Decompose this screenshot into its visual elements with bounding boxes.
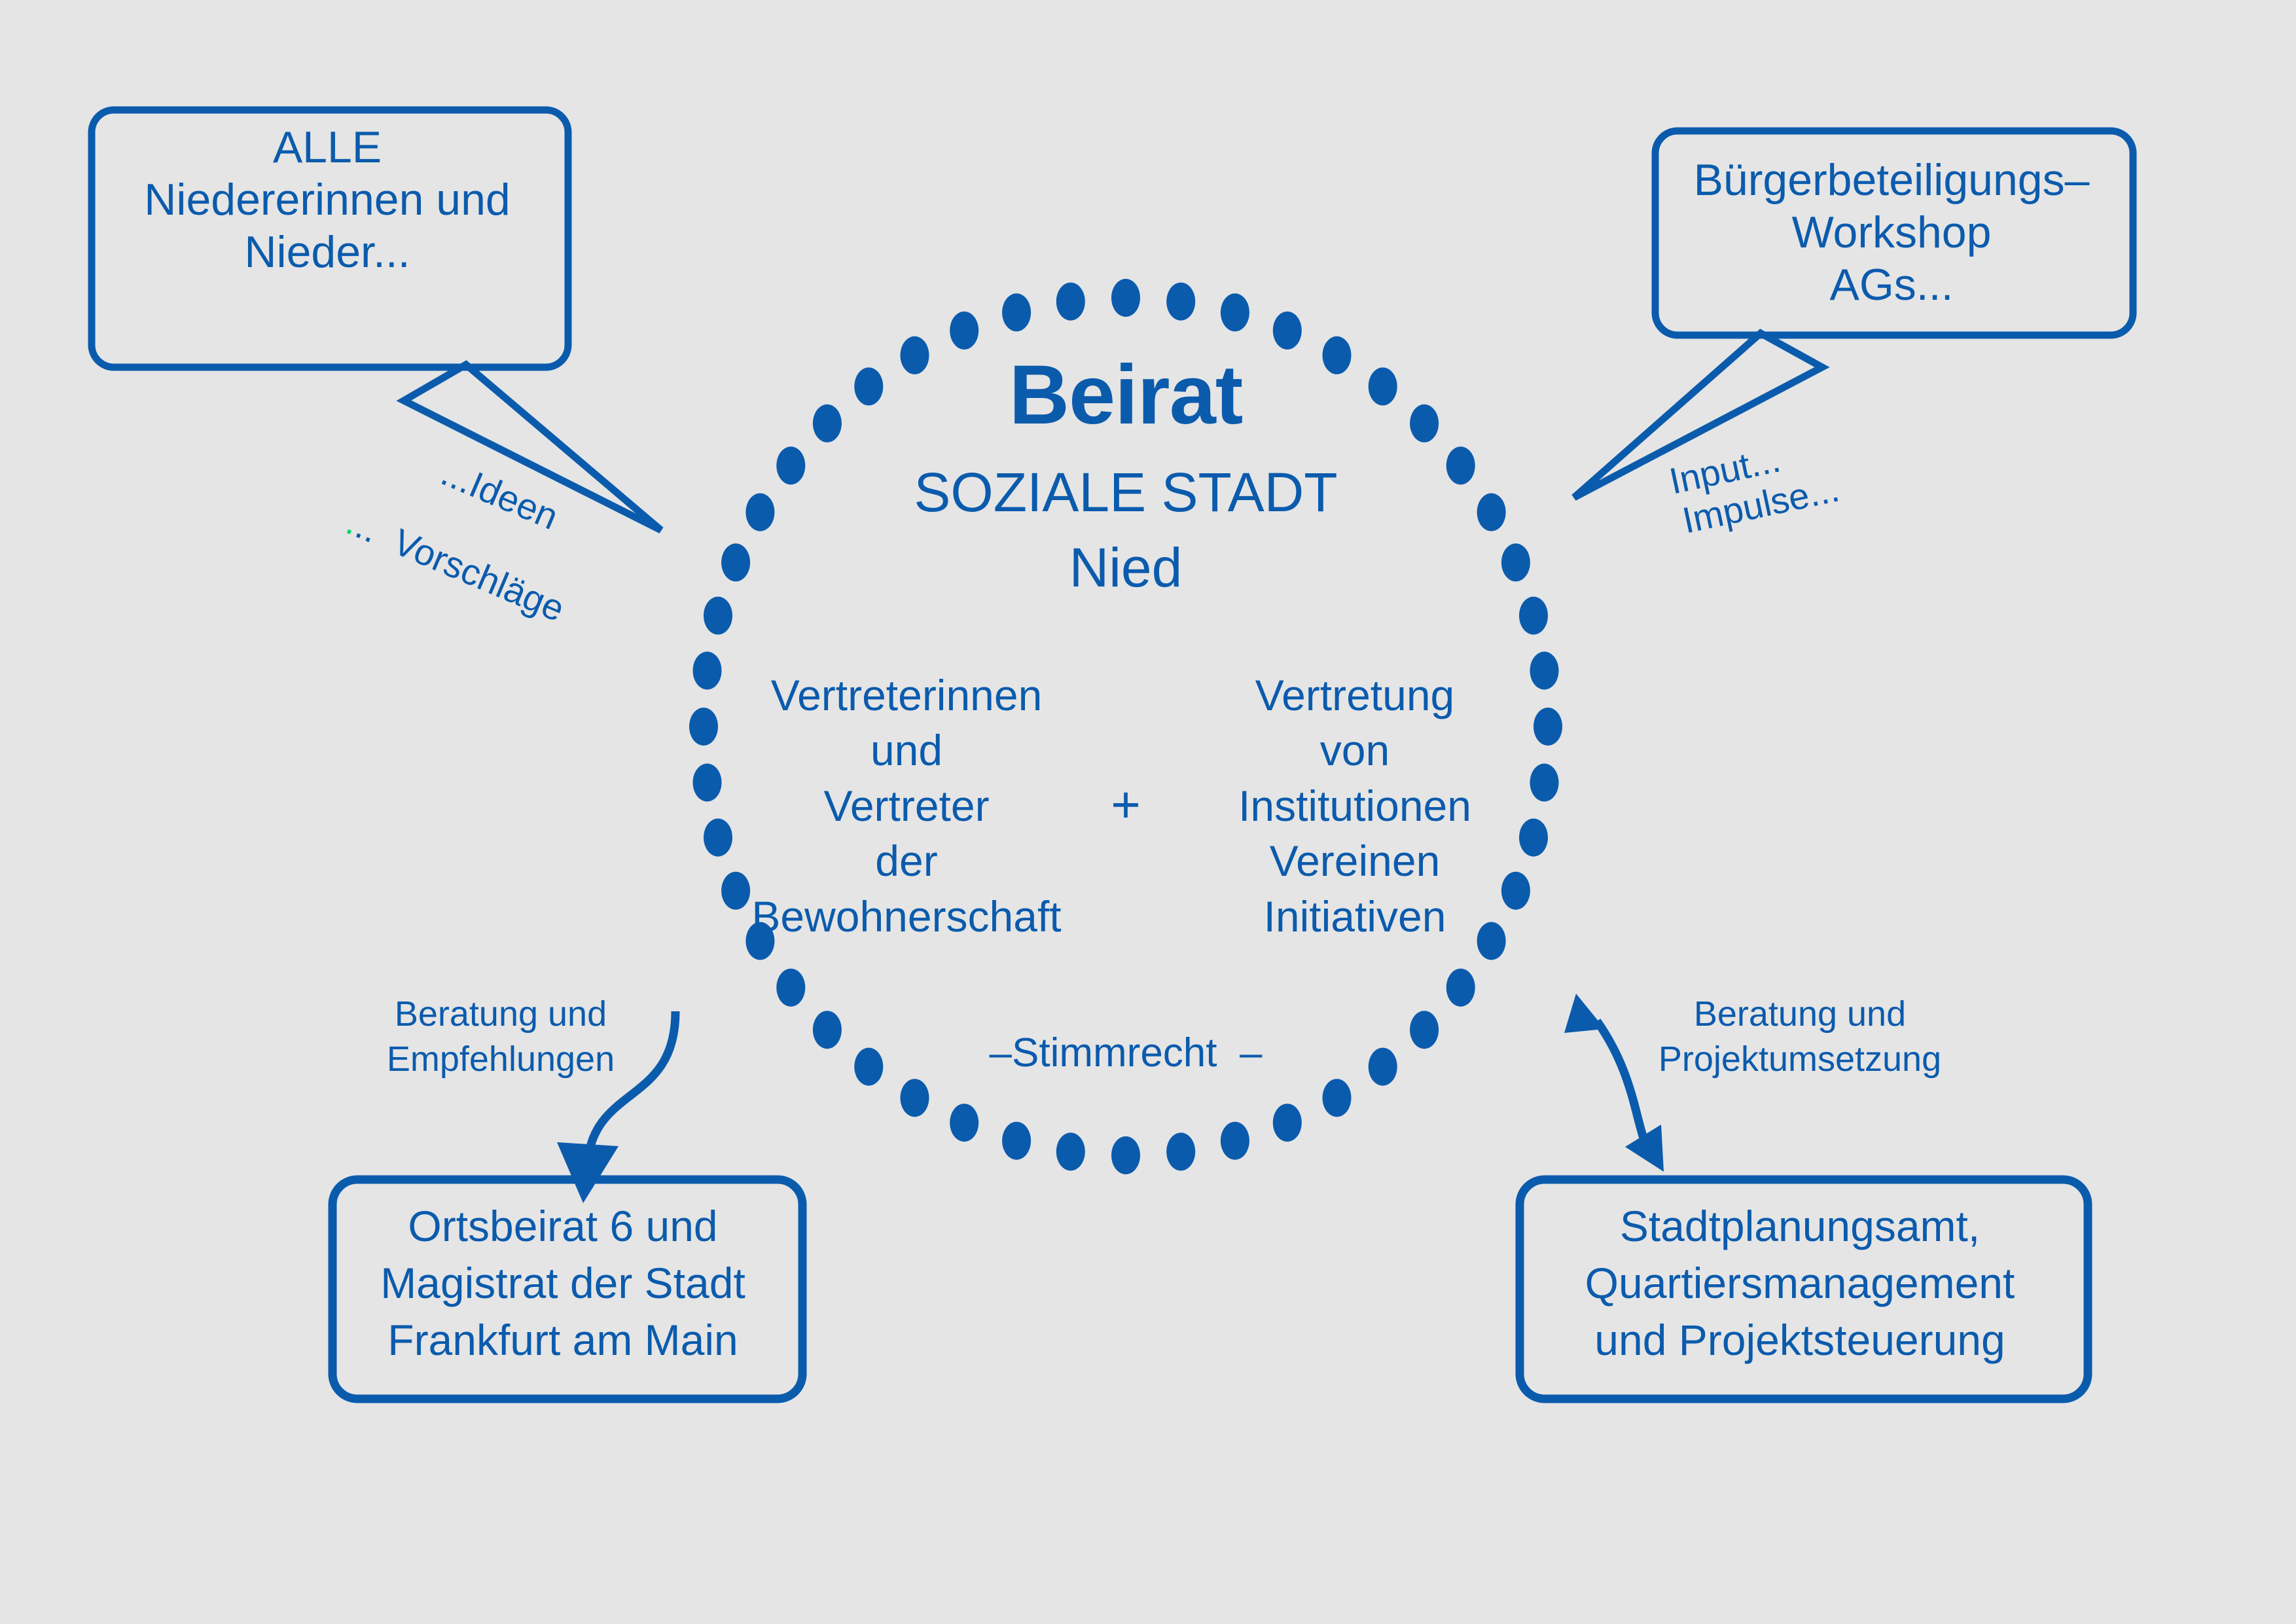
circle-dot	[901, 1079, 929, 1117]
circle-dot	[1221, 1122, 1249, 1160]
circle-dot	[1111, 1136, 1140, 1174]
bubble-right-label: Bürgerbeteiligungs– Workshop AGs...	[1662, 154, 2121, 312]
circle-dot	[1111, 279, 1140, 317]
circle-dot	[1323, 1079, 1352, 1117]
circle-column-left: Vertreterinnen und Vertreter der Bewohne…	[704, 668, 1109, 944]
circle-dot	[1273, 312, 1302, 350]
circle-dot	[1166, 283, 1195, 321]
annotation-beratung-empfehlungen: Beratung und Empfehlungen	[357, 992, 645, 1082]
circle-dot	[745, 494, 774, 532]
circle-dot	[776, 969, 805, 1007]
circle-dot	[1166, 1132, 1195, 1170]
circle-dot	[1002, 293, 1031, 331]
page-subtitle-line2: Nied	[798, 540, 1453, 595]
arrow-left-head	[557, 1142, 619, 1203]
circle-dot	[1056, 1132, 1085, 1170]
diagram-canvas: ALLE Niedererinnen und Nieder... Bürgerb…	[0, 0, 2296, 1624]
circle-dot	[813, 1011, 842, 1049]
circle-footer-note: –Stimmrecht –	[864, 1033, 1388, 1074]
circle-dot	[1410, 1011, 1439, 1049]
box-bottom-left-label: Ortsbeirat 6 und Magistrat der Stadt Fra…	[334, 1198, 792, 1369]
circle-dot	[1519, 597, 1548, 635]
bubble-left-label: ALLE Niedererinnen und Nieder...	[92, 121, 563, 279]
page-title: Beirat	[798, 353, 1453, 437]
circle-dot	[704, 597, 732, 635]
circle-dot	[1446, 969, 1475, 1007]
arrow-right-head-up	[1564, 994, 1605, 1033]
page-subtitle-line1: SOZIALE STADT	[798, 465, 1453, 520]
circle-dot	[1221, 293, 1249, 331]
annotation-beratung-projektumsetzung: Beratung und Projektumsetzung	[1636, 992, 1964, 1082]
circle-dot	[1477, 494, 1506, 532]
circle-dot	[950, 1104, 978, 1142]
circle-dot	[950, 312, 978, 350]
circle-dot	[1501, 543, 1530, 581]
circle-dot	[1273, 1104, 1302, 1142]
circle-dot	[1002, 1122, 1031, 1160]
box-bottom-right-label: Stadtplanungsamt, Quartiersmanagement un…	[1525, 1198, 2075, 1369]
circle-column-right: Vertretung von Institutionen Vereinen In…	[1152, 668, 1558, 944]
circle-dot	[1056, 283, 1085, 321]
circle-dot	[721, 543, 750, 581]
